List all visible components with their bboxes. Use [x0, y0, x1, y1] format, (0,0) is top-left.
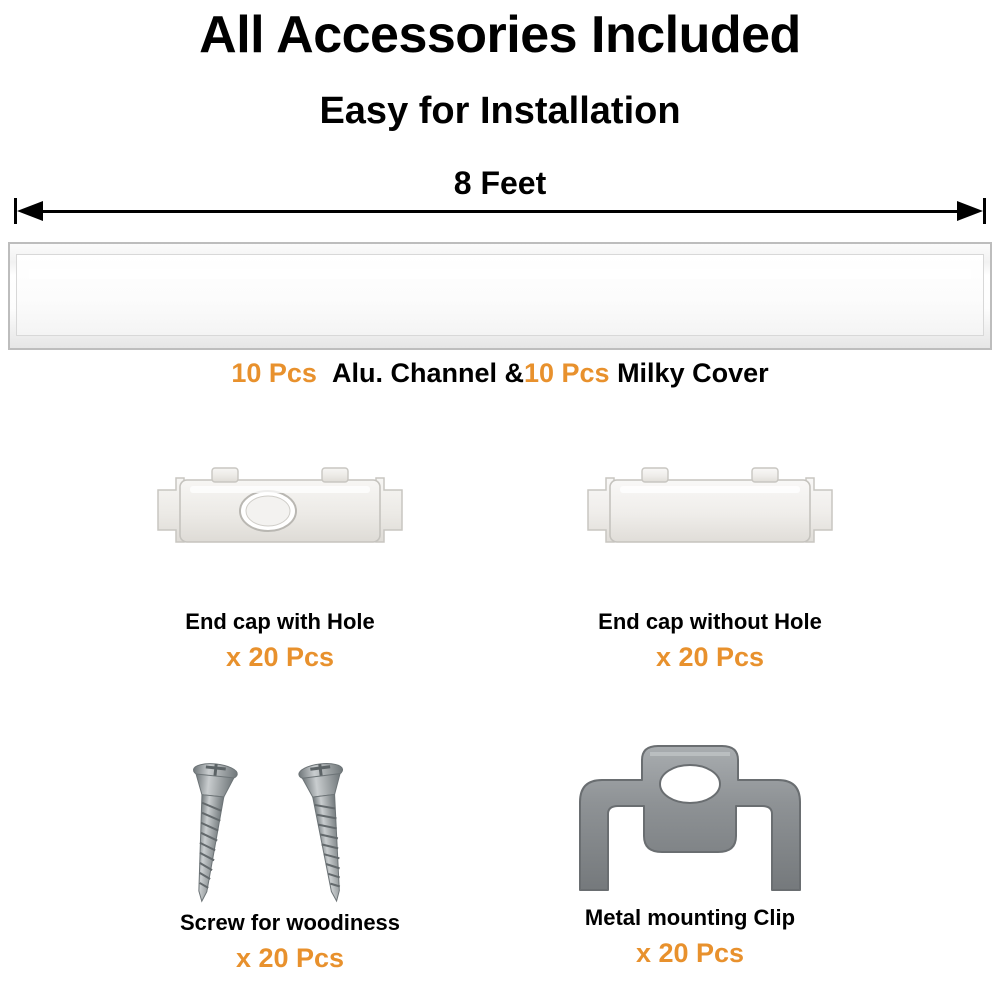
metal-mounting-clip-icon: [550, 740, 830, 905]
channel-qty-2: 10 Pcs: [524, 358, 610, 388]
screw-icon: [160, 760, 420, 910]
item-qty: x 20 Pcs: [90, 642, 470, 673]
arrow-left-icon: [17, 201, 43, 221]
end-cap-without-hole-icon: [580, 430, 840, 605]
aluminum-channel-image: [8, 242, 992, 350]
dimension-cap-right: [983, 198, 986, 224]
page-subtitle: Easy for Installation: [0, 92, 1000, 132]
item-qty: x 20 Pcs: [500, 938, 880, 969]
item-qty: x 20 Pcs: [520, 642, 900, 673]
channel-gloss-highlight: [29, 269, 971, 279]
channel-caption: 10 Pcs Alu. Channel &10 Pcs Milky Cover: [0, 358, 1000, 389]
channel-qty-1: 10 Pcs: [231, 358, 317, 388]
item-label: End cap with Hole: [90, 609, 470, 634]
item-metal-mounting-clip: Metal mounting Clip x 20 Pcs: [500, 740, 880, 969]
milky-cover-inner: [16, 254, 984, 336]
item-screw-for-woodiness: Screw for woodiness x 20 Pcs: [110, 760, 470, 974]
length-label: 8 Feet: [0, 165, 1000, 202]
arrow-right-icon: [957, 201, 983, 221]
item-label: End cap without Hole: [520, 609, 900, 634]
dimension-arrow: [14, 198, 986, 224]
item-end-cap-with-hole: End cap with Hole x 20 Pcs: [90, 430, 470, 673]
item-qty: x 20 Pcs: [110, 943, 470, 974]
page-title: All Accessories Included: [0, 8, 1000, 63]
product-infographic: All Accessories Included Easy for Instal…: [0, 0, 1000, 1000]
dimension-line: [32, 210, 968, 213]
item-end-cap-without-hole: End cap without Hole x 20 Pcs: [520, 430, 900, 673]
channel-text-2: Milky Cover: [617, 358, 769, 388]
channel-text-1: Alu. Channel &: [332, 358, 524, 388]
item-label: Metal mounting Clip: [500, 905, 880, 930]
end-cap-with-hole-icon: [150, 430, 410, 605]
item-label: Screw for woodiness: [110, 910, 470, 935]
